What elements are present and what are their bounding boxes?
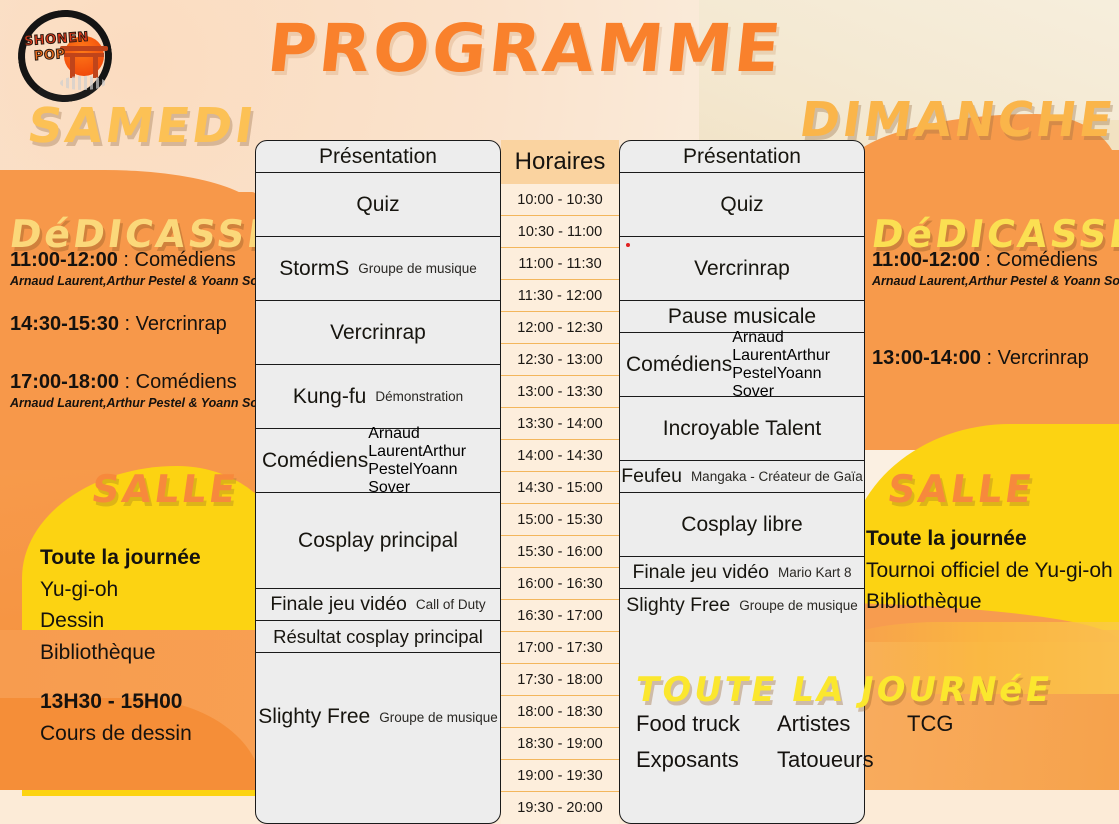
dedicasse-separator: : — [119, 313, 136, 335]
event-subtitle: Démonstration — [375, 389, 463, 404]
event-subtitle: Groupe de musique — [379, 710, 498, 725]
shonen-pop-logo: SHONEN POP — [12, 6, 120, 108]
salle-time-label: 13H30 - 15H00 — [40, 686, 201, 718]
event-title: Résultat cosplay principal — [273, 626, 483, 648]
right-dedicasses-list: 11:00-12:00 : Comédiens Arnaud Laurent,A… — [872, 248, 1119, 370]
schedule-event-cell[interactable]: Slighty FreeGroupe de musique — [620, 589, 864, 621]
dedicasse-names: Arnaud Laurent,Arthur Pestel & Yoann Sov… — [872, 273, 1119, 289]
dedicasse-separator: : — [118, 249, 135, 271]
event-title: Incroyable Talent — [663, 417, 821, 441]
event-title: Pause musicale — [668, 305, 816, 329]
day-heading-saturday: SAMEDI — [24, 98, 260, 154]
left-salle-heading: SALLE — [89, 467, 241, 511]
marker-dot-icon — [626, 243, 630, 247]
schedule-event-cell[interactable]: ComédiensArnaud LaurentArthur PestelYoan… — [620, 333, 864, 397]
dedicasse-who: Vercrinrap — [998, 347, 1089, 369]
event-title: StormS — [279, 257, 349, 281]
event-title: Feufeu — [621, 465, 682, 488]
time-column: Horaires 10:00 - 10:3010:30 - 11:0011:00… — [501, 140, 619, 824]
list-item: Tournoi officiel de Yu-gi-oh — [866, 555, 1113, 587]
event-subtitle: Call of Duty — [416, 597, 486, 612]
schedule-event-cell[interactable]: ComédiensArnaud LaurentArthur PestelYoan… — [256, 429, 500, 493]
event-title: Slighty Free — [258, 705, 370, 729]
dedicasse-who: Comédiens — [997, 249, 1098, 271]
list-item: Dessin — [40, 605, 201, 637]
left-dedicasses-list: 11:00-12:00 : Comédiens Arnaud Laurent,A… — [10, 248, 260, 412]
event-title: Cosplay libre — [681, 513, 802, 537]
event-title: Présentation — [683, 145, 801, 169]
time-slot: 17:00 - 17:30 — [501, 632, 619, 664]
time-slot: 10:00 - 10:30 — [501, 184, 619, 216]
dedicasse-names: Arnaud Laurent,Arthur Pestel & Yoann Sov… — [10, 395, 260, 411]
event-subtitle: Groupe de musique — [358, 261, 477, 276]
dedicasse-time: 14:30-15:30 — [10, 313, 119, 335]
schedule-event-cell[interactable]: Kung-fuDémonstration — [256, 365, 500, 429]
dedicasse-separator: : — [981, 347, 998, 369]
event-performer-list: Arnaud LaurentArthur PestelYoann Sover — [732, 329, 858, 401]
left-salle-block: Toute la journée Yu-gi-oh Dessin Bibliot… — [40, 542, 201, 749]
dedicasse-who: Comédiens — [135, 249, 236, 271]
list-item: Artistes — [777, 706, 899, 742]
event-title: Comédiens — [626, 353, 732, 377]
schedule-event-cell[interactable]: Vercrinrap — [256, 301, 500, 365]
time-column-header: Horaires — [501, 140, 619, 184]
time-slot: 14:30 - 15:00 — [501, 472, 619, 504]
time-slot: 18:30 - 19:00 — [501, 728, 619, 760]
allday-items: Food truck Artistes TCG Exposants Tatoue… — [636, 706, 953, 778]
time-slot: 14:00 - 14:30 — [501, 440, 619, 472]
time-slot: 13:30 - 14:00 — [501, 408, 619, 440]
dedicasse-time: 17:00-18:00 — [10, 371, 119, 393]
time-slot: 19:30 - 20:00 — [501, 792, 619, 824]
time-slot: 15:00 - 15:30 — [501, 504, 619, 536]
event-title: Finale jeu vidéo — [632, 561, 769, 584]
schedule-event-cell[interactable]: Finale jeu vidéoMario Kart 8 — [620, 557, 864, 589]
time-slot: 12:00 - 12:30 — [501, 312, 619, 344]
event-title: Kung-fu — [293, 385, 367, 409]
time-slot: 15:30 - 16:00 — [501, 536, 619, 568]
time-slot: 13:00 - 13:30 — [501, 376, 619, 408]
event-subtitle: Mangaka - Créateur de Gaïa — [691, 469, 863, 484]
logo-text-pop: POP — [34, 47, 67, 64]
time-slot: 17:30 - 18:00 — [501, 664, 619, 696]
schedule-event-cell[interactable]: Quiz — [256, 173, 500, 237]
schedule-event-cell[interactable]: Cosplay principal — [256, 493, 500, 589]
list-item: Arnaud Laurent — [732, 329, 786, 364]
list-item: Exposants — [636, 742, 769, 778]
schedule-event-cell[interactable]: Résultat cosplay principal — [256, 621, 500, 653]
event-title: Vercrinrap — [694, 257, 790, 281]
event-title: Slighty Free — [626, 594, 730, 617]
schedule-event-cell[interactable]: Présentation — [620, 141, 864, 173]
salle-allday-label: Toute la journée — [866, 523, 1113, 555]
event-title: Finale jeu vidéo — [270, 593, 407, 616]
event-title: Comédiens — [262, 449, 368, 473]
time-slot-list: 10:00 - 10:3010:30 - 11:0011:00 - 11:301… — [501, 184, 619, 824]
schedule-event-cell[interactable]: StormSGroupe de musique — [256, 237, 500, 301]
schedule-event-cell[interactable]: Vercrinrap — [620, 237, 864, 301]
schedule-event-cell[interactable]: Slighty FreeGroupe de musique — [256, 653, 500, 781]
time-slot: 11:30 - 12:00 — [501, 280, 619, 312]
dedicasse-time: 11:00-12:00 — [10, 249, 118, 271]
event-subtitle: Mario Kart 8 — [778, 565, 852, 580]
right-salle-block: Toute la journée Tournoi officiel de Yu-… — [866, 523, 1113, 618]
list-item: 17:00-18:00 : Comédiens Arnaud Laurent,A… — [10, 370, 260, 412]
dedicasse-time: 11:00-12:00 — [872, 249, 980, 271]
list-item: 13:00-14:00 : Vercrinrap — [872, 346, 1119, 370]
list-item: Arnaud Laurent — [368, 425, 422, 460]
salle-allday-label: Toute la journée — [40, 542, 201, 574]
dedicasse-who: Comédiens — [136, 371, 237, 393]
dedicasse-separator: : — [980, 249, 997, 271]
time-slot: 12:30 - 13:00 — [501, 344, 619, 376]
dedicasse-who: Vercrinrap — [136, 313, 227, 335]
dedicasse-separator: : — [119, 371, 136, 393]
schedule-event-cell[interactable]: Cosplay libre — [620, 493, 864, 557]
time-slot: 16:30 - 17:00 — [501, 600, 619, 632]
page-title: PROGRAMME — [264, 10, 787, 87]
list-item: Tatoueurs — [777, 742, 899, 778]
list-item: Bibliothèque — [866, 586, 1113, 618]
list-item: Yu-gi-oh — [40, 574, 201, 606]
dedicasse-names: Arnaud Laurent,Arthur Pestel & Yoann Sov… — [10, 273, 260, 289]
list-item: 11:00-12:00 : Comédiens Arnaud Laurent,A… — [10, 248, 260, 290]
time-slot: 19:00 - 19:30 — [501, 760, 619, 792]
list-item: TCG — [907, 706, 953, 742]
list-item: 11:00-12:00 : Comédiens Arnaud Laurent,A… — [872, 248, 1119, 290]
event-performer-list: Arnaud LaurentArthur PestelYoann Sover — [368, 425, 494, 497]
saturday-schedule-table[interactable]: PrésentationQuizStormSGroupe de musiqueV… — [255, 140, 501, 824]
logo-wave-icon — [60, 76, 106, 90]
salle-time-item: Cours de dessin — [40, 718, 201, 750]
event-title: Vercrinrap — [330, 321, 426, 345]
event-title: Cosplay principal — [298, 529, 458, 553]
event-title: Quiz — [720, 193, 763, 217]
list-item — [907, 742, 953, 778]
event-subtitle: Groupe de musique — [739, 598, 858, 613]
right-salle-heading: SALLE — [885, 467, 1037, 511]
schedule-event-cell[interactable]: Finale jeu vidéoCall of Duty — [256, 589, 500, 621]
dedicasse-time: 13:00-14:00 — [872, 347, 981, 369]
event-title: Présentation — [319, 145, 437, 169]
event-title: Quiz — [356, 193, 399, 217]
schedule-event-cell[interactable]: Incroyable Talent — [620, 397, 864, 461]
list-item: Food truck — [636, 706, 769, 742]
list-item: 14:30-15:30 : Vercrinrap — [10, 312, 260, 336]
allday-heading: TOUTE LA JOURNéE — [632, 670, 1055, 710]
logo-torii-gate-icon — [60, 44, 108, 78]
list-item: Bibliothèque — [40, 637, 201, 669]
time-slot: 10:30 - 11:00 — [501, 216, 619, 248]
time-slot: 16:00 - 16:30 — [501, 568, 619, 600]
schedule-event-cell[interactable]: FeufeuMangaka - Créateur de Gaïa — [620, 461, 864, 493]
schedule-event-cell[interactable]: Présentation — [256, 141, 500, 173]
schedule-event-cell[interactable]: Quiz — [620, 173, 864, 237]
time-slot: 18:00 - 18:30 — [501, 696, 619, 728]
time-slot: 11:00 - 11:30 — [501, 248, 619, 280]
